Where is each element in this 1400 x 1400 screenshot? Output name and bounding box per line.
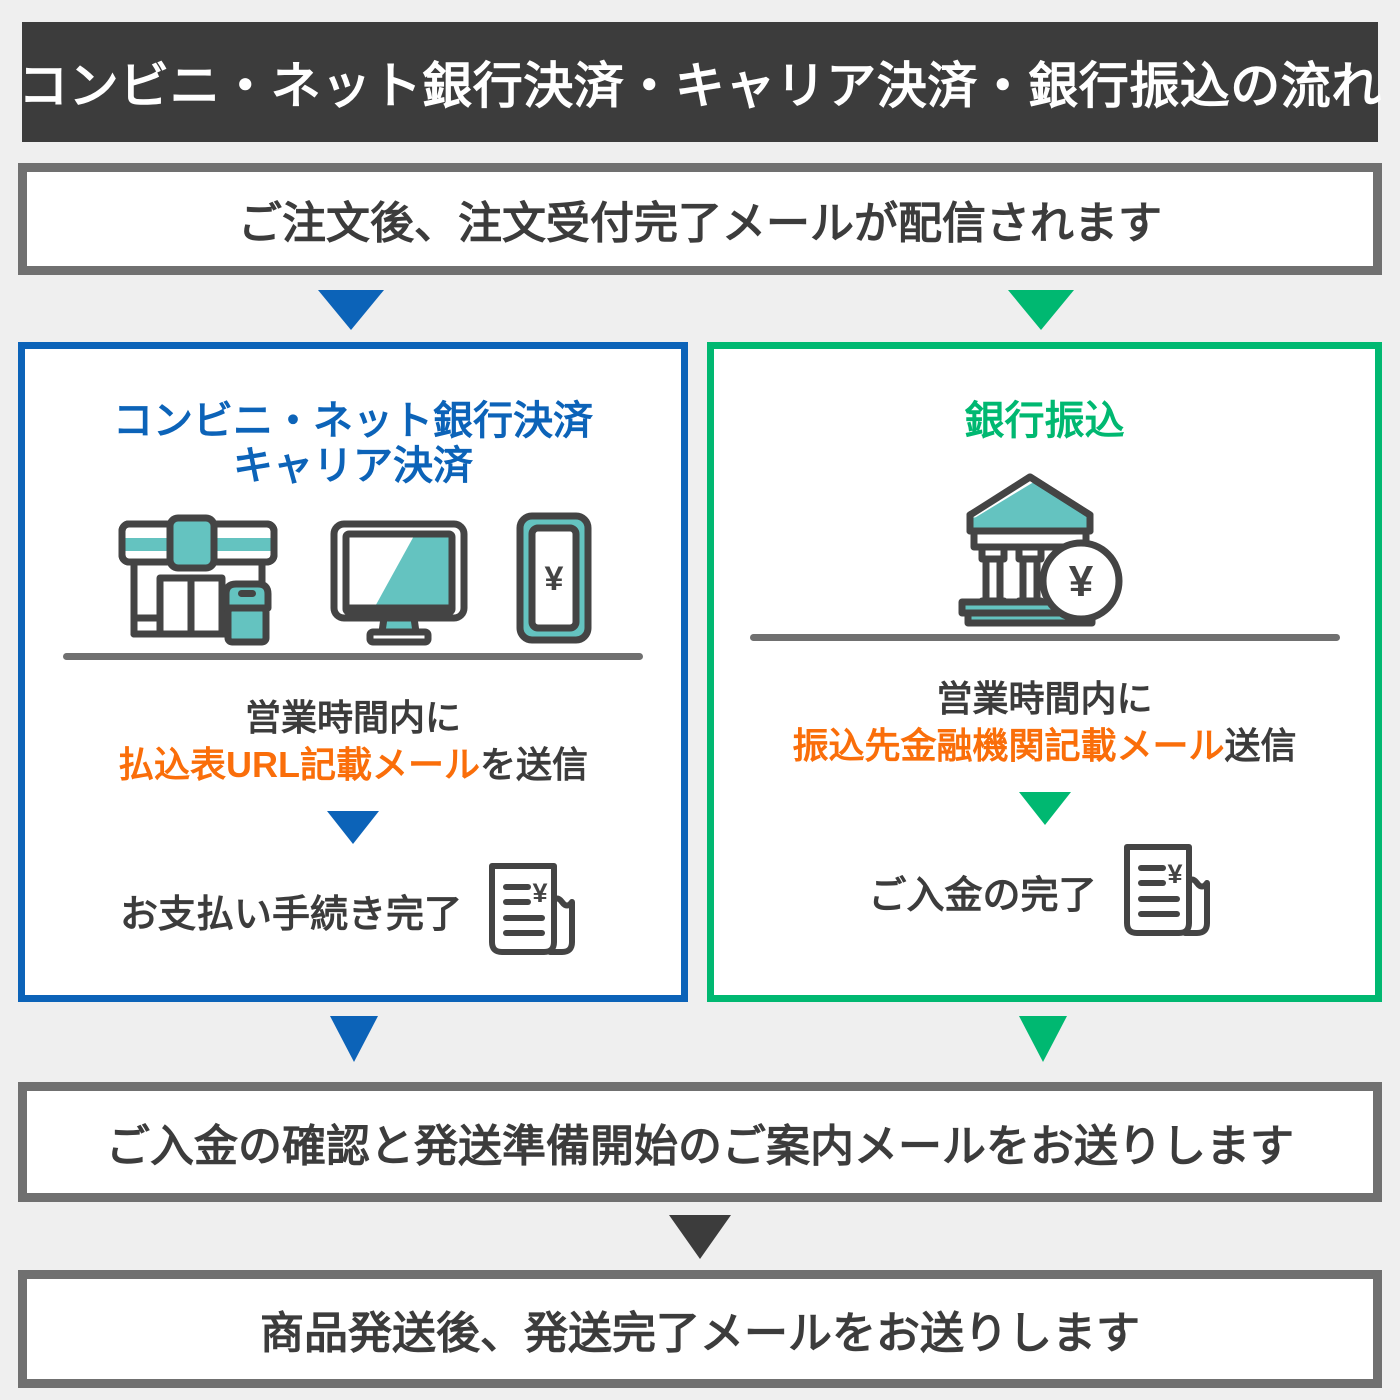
bank-send-highlight: 振込先金融機関記載メール: [792, 725, 1224, 766]
convenience-complete-label: お支払い手続き完了: [120, 883, 462, 938]
card-divider-bank: [750, 634, 1340, 641]
card-title-convenience: コンビニ・ネット銀行決済 キャリア決済: [25, 399, 681, 489]
convenience-complete-row: お支払い手続き完了 ¥: [25, 854, 681, 967]
convenience-send-suffix: を送信: [480, 744, 588, 785]
arrow-down-green-bottom-icon: [1019, 1016, 1067, 1062]
step-shipping-complete-label: 商品発送後、発送完了メールをお送りします: [260, 1297, 1140, 1361]
smartphone-yen-icon: ¥: [510, 508, 598, 653]
receipt-yen-icon: ¥: [1111, 835, 1221, 948]
arrow-down-blue-top-icon: [318, 290, 384, 330]
arrow-down-dark-icon: [669, 1215, 731, 1259]
svg-text:¥: ¥: [1167, 859, 1182, 889]
bank-send-suffix: 送信: [1225, 725, 1297, 766]
svg-text:¥: ¥: [532, 878, 547, 908]
convenience-send-text: 営業時間内に 払込表URL記載メールを送信: [25, 694, 681, 789]
svg-text:¥: ¥: [1069, 557, 1094, 606]
arrow-down-blue-inner-icon: [327, 811, 379, 844]
arrow-down-green-inner-icon: [1019, 792, 1071, 825]
convenience-store-icon: [108, 508, 288, 653]
step-payment-confirmed-label: ご入金の確認と発送準備開始のご案内メールをお送りします: [106, 1110, 1294, 1174]
bank-inner-arrow-wrap: [714, 792, 1375, 825]
card-title-bank: 銀行振込: [714, 399, 1375, 444]
payment-method-card-bank: 銀行振込: [707, 342, 1382, 1002]
step-shipping-complete: 商品発送後、発送完了メールをお送りします: [18, 1270, 1382, 1388]
convenience-inner-arrow-wrap: [25, 811, 681, 844]
receipt-yen-icon: ¥: [476, 854, 586, 967]
payment-flow-diagram: コンビニ・ネット銀行決済・キャリア決済・銀行振込の流れ ご注文後、注文受付完了メ…: [0, 0, 1400, 1400]
bank-complete-label: ご入金の完了: [868, 864, 1096, 919]
bank-send-text: 営業時間内に 振込先金融機関記載メール送信: [714, 675, 1375, 770]
step-order-confirmation-label: ご注文後、注文受付完了メールが配信されます: [238, 187, 1162, 251]
svg-text:¥: ¥: [545, 560, 564, 598]
monitor-icon: [324, 508, 474, 653]
convenience-send-highlight: 払込表URL記載メール: [118, 744, 480, 785]
convenience-send-line1: 営業時間内に: [245, 697, 461, 738]
convenience-icon-row: ¥: [25, 503, 681, 653]
step-payment-confirmed: ご入金の確認と発送準備開始のご案内メールをお送りします: [18, 1082, 1382, 1202]
bank-icon-row: ¥: [714, 484, 1375, 634]
arrow-down-blue-bottom-icon: [330, 1016, 378, 1062]
diagram-title-bar: コンビニ・ネット銀行決済・キャリア決済・銀行振込の流れ: [22, 22, 1378, 142]
payment-method-card-convenience: コンビニ・ネット銀行決済 キャリア決済: [18, 342, 688, 1002]
bank-send-line1: 営業時間内に: [936, 678, 1152, 719]
card-divider-convenience: [63, 653, 643, 660]
bank-complete-row: ご入金の完了 ¥: [714, 835, 1375, 948]
arrow-down-green-top-icon: [1008, 290, 1074, 330]
step-order-confirmation: ご注文後、注文受付完了メールが配信されます: [18, 163, 1382, 275]
page-title: コンビニ・ネット銀行決済・キャリア決済・銀行振込の流れ: [18, 46, 1382, 118]
bank-yen-icon: ¥: [952, 469, 1137, 634]
